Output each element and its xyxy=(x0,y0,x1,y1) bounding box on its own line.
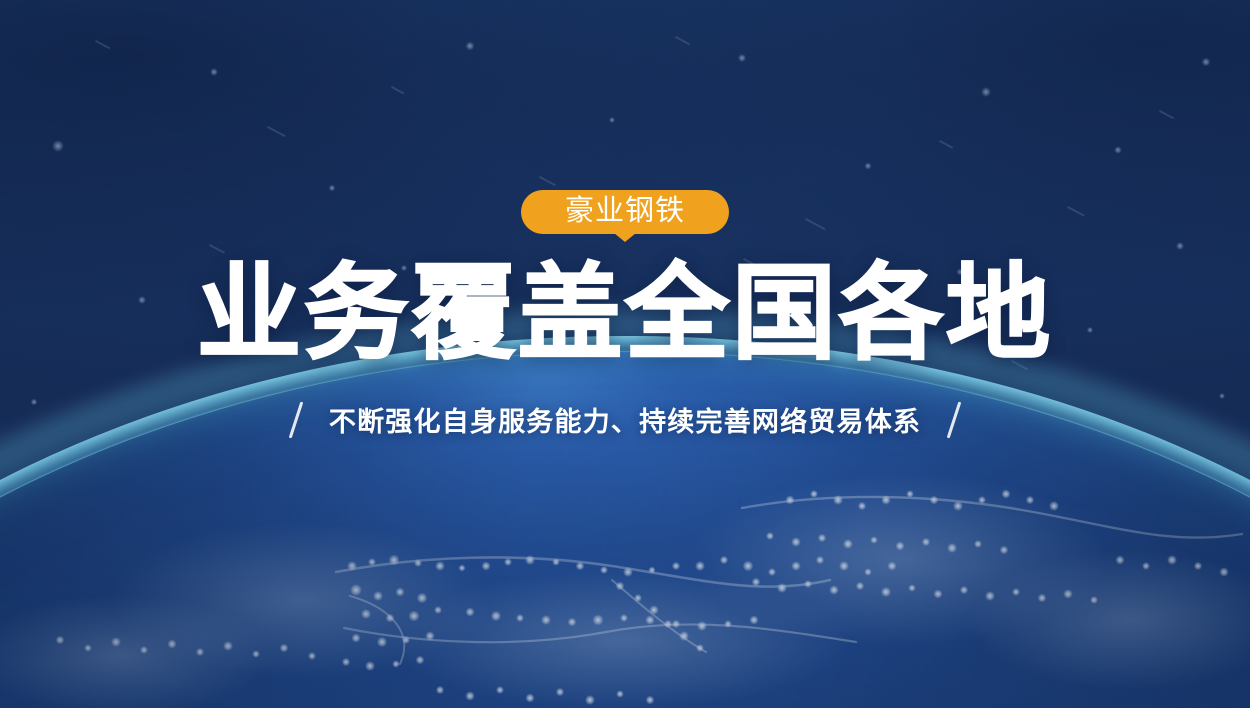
badge-pointer-icon xyxy=(614,233,636,242)
subtitle-row: 不断强化自身服务能力、持续完善网络贸易体系 xyxy=(0,400,1250,439)
brand-badge-wrapper: 豪业钢铁 xyxy=(0,190,1250,234)
subtitle: 不断强化自身服务能力、持续完善网络贸易体系 xyxy=(329,400,921,439)
brand-badge-label: 豪业钢铁 xyxy=(547,197,703,226)
slash-right-icon xyxy=(943,401,965,439)
banner-content: 豪业钢铁 业务覆盖全国各地 不断强化自身服务能力、持续完善网络贸易体系 xyxy=(0,0,1250,708)
slash-left-icon xyxy=(285,401,307,439)
brand-badge: 豪业钢铁 xyxy=(521,190,729,234)
headline: 业务覆盖全国各地 xyxy=(0,258,1250,370)
hero-banner: 豪业钢铁 业务覆盖全国各地 不断强化自身服务能力、持续完善网络贸易体系 xyxy=(0,0,1250,708)
